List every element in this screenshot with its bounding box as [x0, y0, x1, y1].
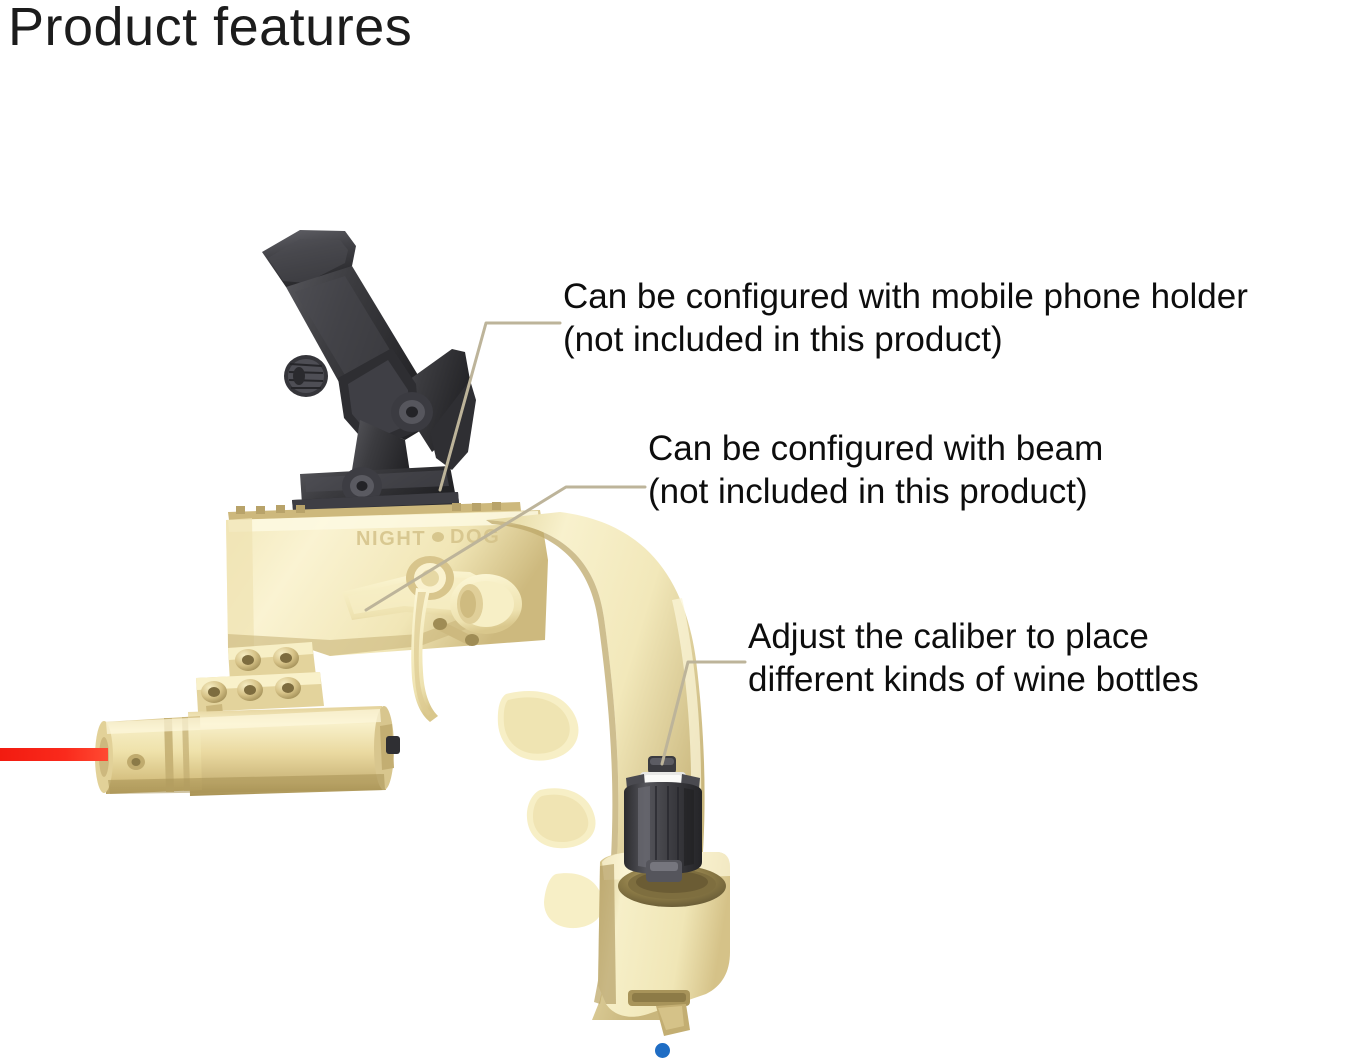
- carousel-page-dot[interactable]: [655, 1043, 670, 1058]
- leader-line-phone-holder: [440, 323, 560, 490]
- callout-leader-lines: [0, 0, 1350, 1058]
- leader-line-caliber: [662, 662, 745, 764]
- product-feature-image: Product features: [0, 0, 1350, 1058]
- leader-line-beam: [366, 487, 645, 610]
